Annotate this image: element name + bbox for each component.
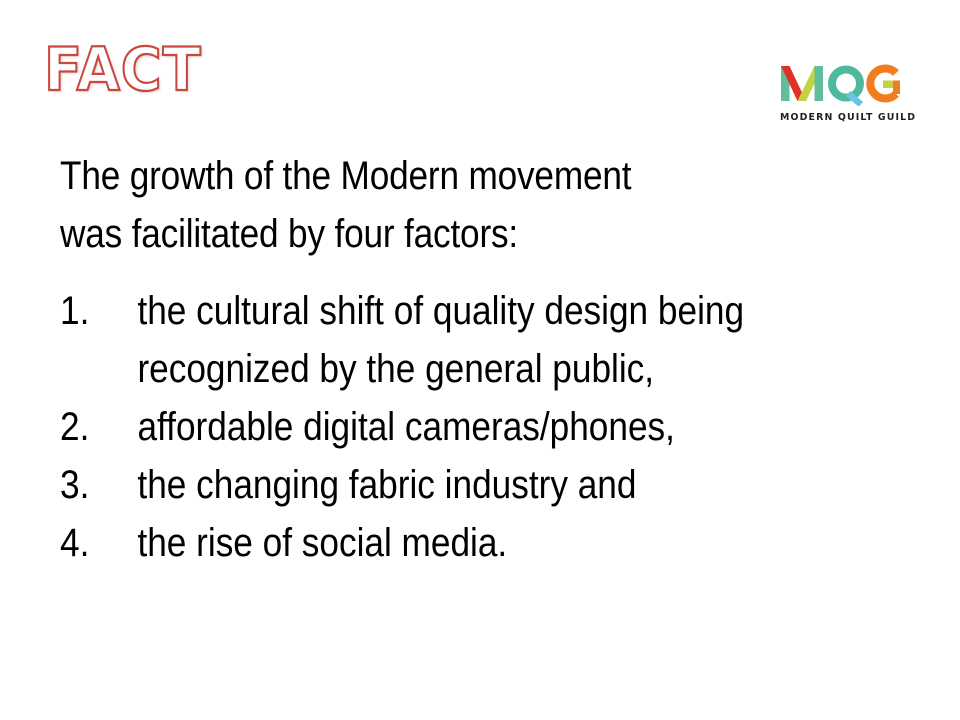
- list-item-number: 2.: [60, 398, 137, 456]
- page-title: FACT: [44, 40, 202, 100]
- list-item-number: 4.: [60, 514, 137, 572]
- mqg-logo: MODERN QUILT GUILD: [780, 56, 910, 134]
- list-item-text: the cultural shift of quality design bei…: [137, 282, 852, 398]
- logo-tagline: MODERN QUILT GUILD: [780, 112, 908, 123]
- list-item-number: 3.: [60, 456, 137, 514]
- factors-list: 1. the cultural shift of quality design …: [60, 282, 852, 572]
- list-item: 3. the changing fabric industry and: [60, 456, 852, 514]
- list-item-text: affordable digital cameras/phones,: [137, 398, 852, 456]
- mqg-logo-mark: [780, 56, 902, 106]
- list-item: 1. the cultural shift of quality design …: [60, 282, 852, 398]
- slide-canvas: FACT MODERN QUILT GUILD The growth of th…: [0, 0, 960, 720]
- list-item: 2. affordable digital cameras/phones,: [60, 398, 852, 456]
- list-item-number: 1.: [60, 282, 137, 340]
- heading-line-2: was facilitated by four factors:: [60, 206, 799, 264]
- heading-block: The growth of the Modern movement was fa…: [60, 148, 799, 263]
- list-item: 4. the rise of social media.: [60, 514, 852, 572]
- list-item-text: the changing fabric industry and: [137, 456, 852, 514]
- list-item-text: the rise of social media.: [137, 514, 852, 572]
- heading-line-1: The growth of the Modern movement: [60, 148, 799, 206]
